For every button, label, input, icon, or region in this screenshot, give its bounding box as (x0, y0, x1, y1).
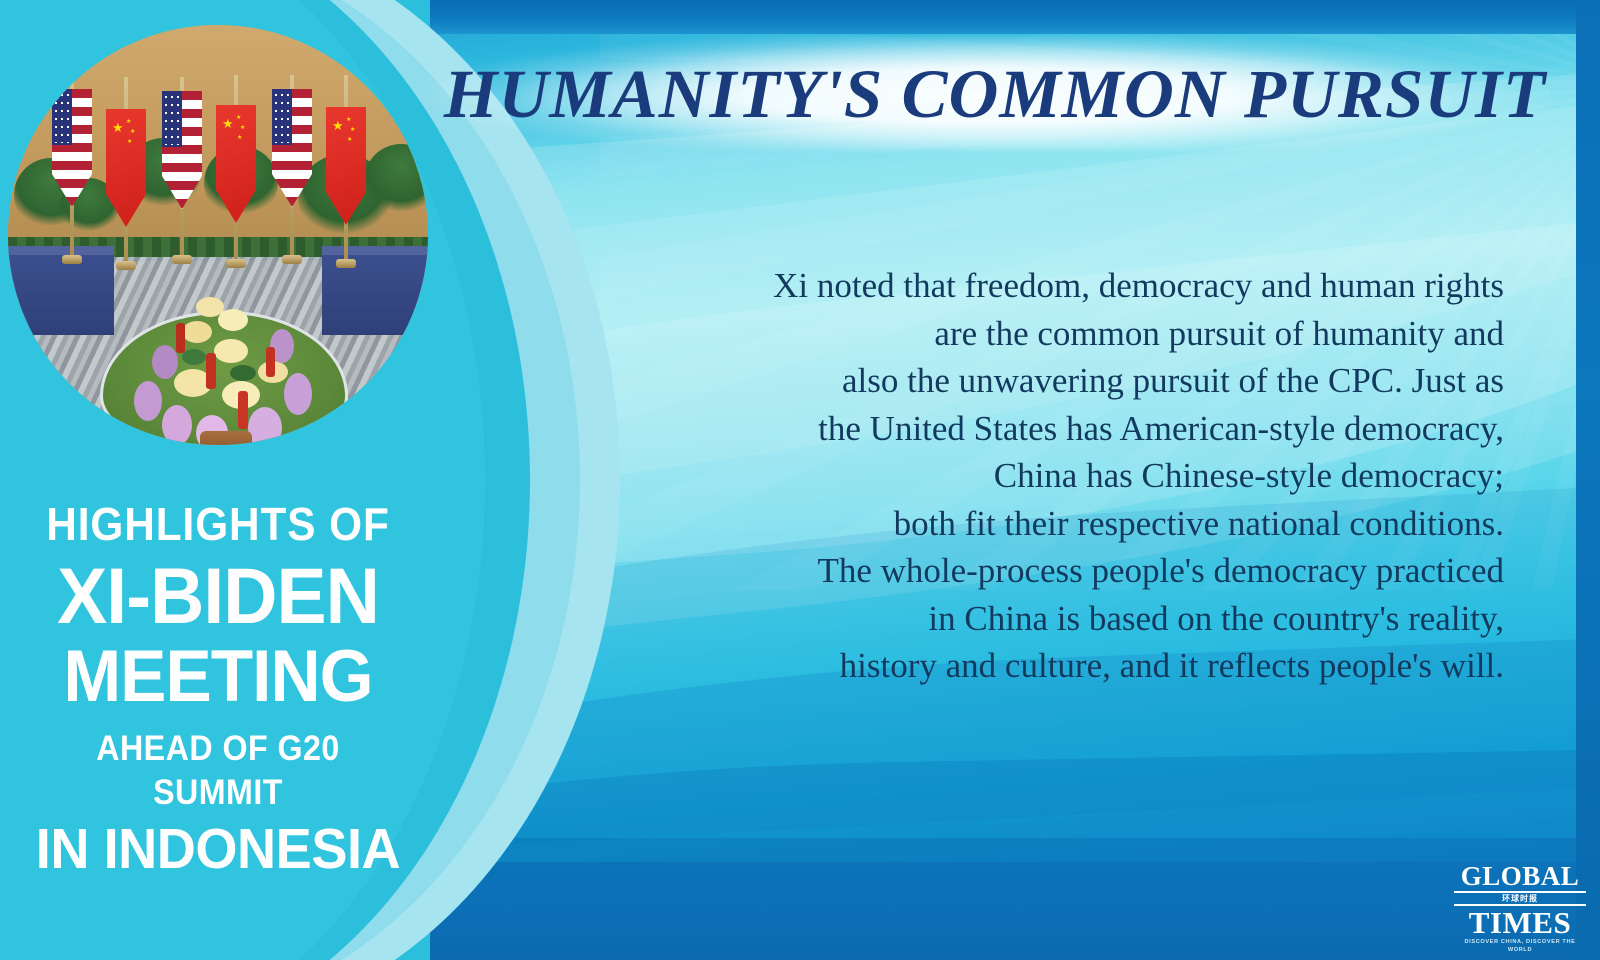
us-flag (162, 91, 202, 209)
body-line: China has Chinese-style democracy; (694, 452, 1504, 500)
body-line: in China is based on the country's reali… (694, 595, 1504, 643)
logo-tagline: DISCOVER CHINA, DISCOVER THE WORLD (1453, 938, 1588, 954)
headline-line-2: XI-BIDEN (28, 554, 408, 637)
infographic-canvas: ★★ ★★ ★★ ★★ (0, 0, 1600, 960)
photo-flower-arrangement (118, 295, 330, 445)
body-line: Xi noted that freedom, democracy and hum… (694, 262, 1504, 310)
china-flag: ★★ ★★ (216, 105, 256, 223)
global-times-logo: GLOBAL 环球时报 TIMES DISCOVER CHINA, DISCOV… (1454, 863, 1586, 954)
body-line: also the unwavering pursuit of the CPC. … (694, 357, 1504, 405)
headline-line-1: HIGHLIGHTS OF (34, 498, 402, 550)
right-edge-strip (1576, 0, 1600, 960)
body-line: the United States has American-style dem… (694, 405, 1504, 453)
headline-line-3: MEETING (28, 637, 408, 717)
logo-chinese-text: 环球时报 (1454, 894, 1586, 903)
us-flag (272, 89, 312, 207)
body-line: are the common pursuit of humanity and (694, 310, 1504, 358)
page-title: HUMANITY'S COMMON PURSUIT (430, 44, 1560, 144)
logo-rule-top (1454, 891, 1586, 893)
headline-line-5: IN INDONESIA (28, 817, 408, 881)
body-paragraph: Xi noted that freedom, democracy and hum… (694, 262, 1504, 690)
body-line: The whole-process people's democracy pra… (694, 547, 1504, 595)
summit-photo: ★★ ★★ ★★ ★★ (8, 25, 428, 445)
body-line: history and culture, and it reflects peo… (694, 642, 1504, 690)
logo-times-text: TIMES (1454, 907, 1586, 938)
china-flag: ★★ ★★ (106, 109, 146, 227)
us-flag (52, 89, 92, 207)
china-flag: ★★ ★★ (326, 107, 366, 225)
headline-line-4: AHEAD OF G20 SUMMIT (34, 727, 402, 815)
headline-block: HIGHLIGHTS OF XI-BIDEN MEETING AHEAD OF … (18, 498, 418, 881)
body-line: both fit their respective national condi… (694, 500, 1504, 548)
photo-flag-row: ★★ ★★ ★★ ★★ (52, 83, 392, 273)
logo-global-text: GLOBAL (1454, 863, 1586, 890)
